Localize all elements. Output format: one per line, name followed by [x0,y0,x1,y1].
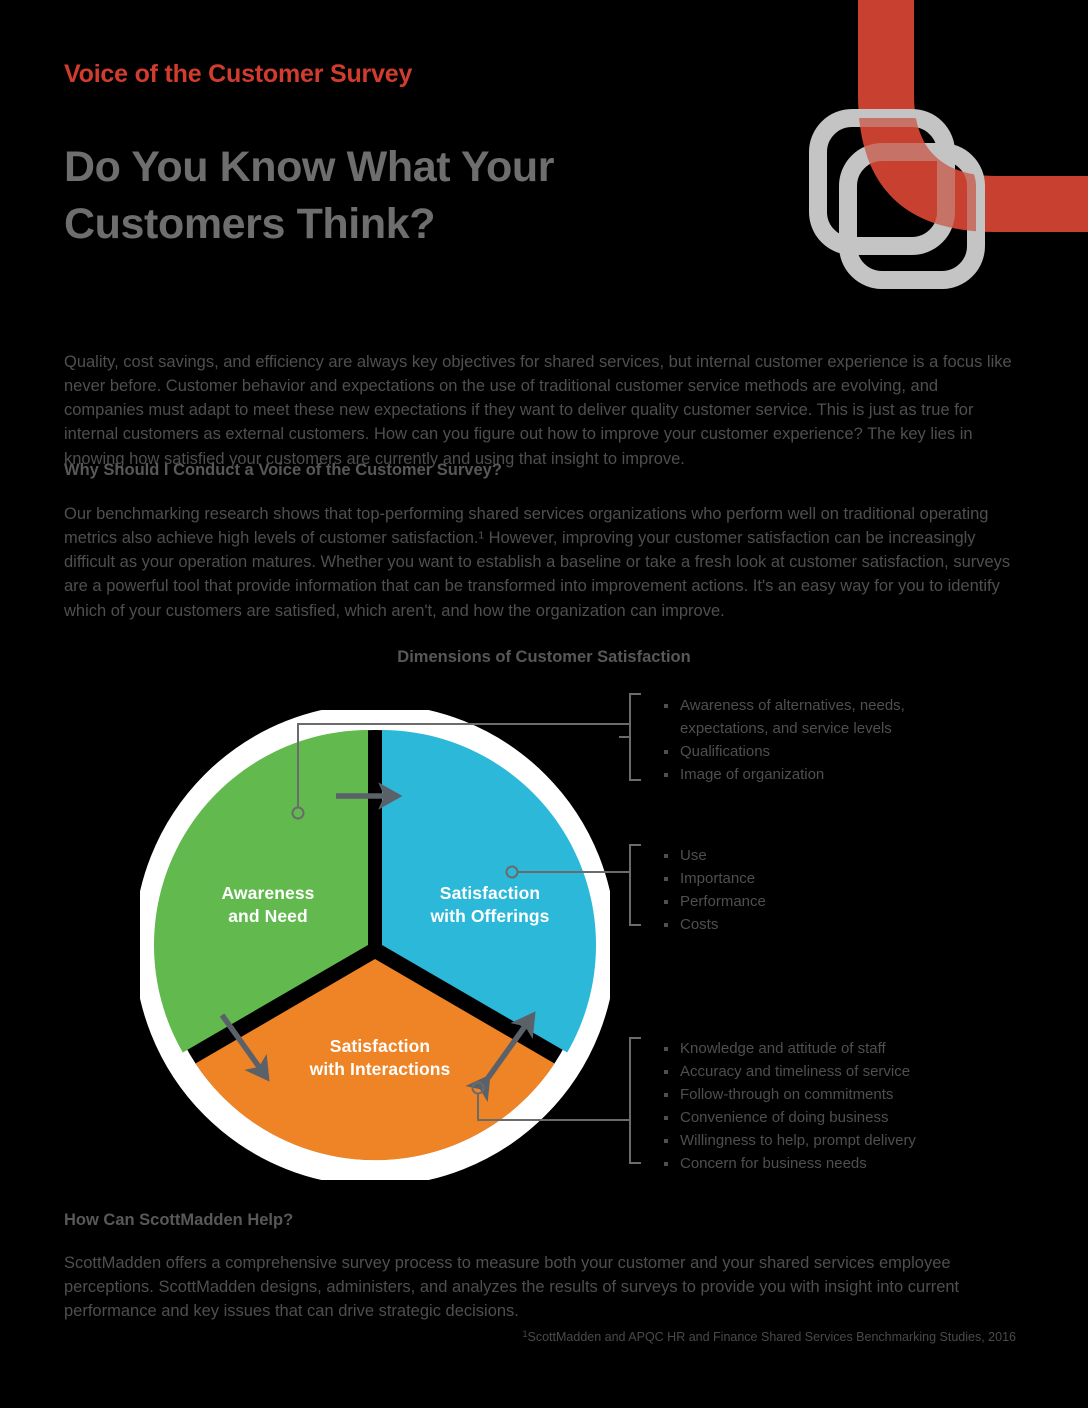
document-page: Voice of the Customer Survey Do You Know… [0,0,1088,1408]
bullet-group-interactions: Knowledge and attitude of staff Accuracy… [662,1038,992,1176]
donut-chart [140,710,610,1180]
logo-mark [800,0,1088,290]
help-section-paragraph: ScottMadden offers a comprehensive surve… [64,1251,1016,1324]
bullet-list-awareness: Awareness of alternatives, needs, expect… [662,695,972,786]
segment-label-offerings: Satisfaction with Offerings [390,882,590,928]
bullet-list-interactions: Knowledge and attitude of staff Accuracy… [662,1038,992,1176]
diagram-title: Dimensions of Customer Satisfaction [0,648,1088,667]
page-title: Do You Know What Your Customers Think? [64,139,764,253]
scottmadden-logo [800,0,1088,290]
segment-label-awareness: Awareness and Need [178,882,358,928]
list-item: Willingness to help, prompt delivery [662,1130,992,1153]
segment-label-interactions: Satisfaction with Interactions [270,1035,490,1081]
footnote: 1ScottMadden and APQC HR and Finance Sha… [64,1329,1016,1344]
list-item: Image of organization [662,764,972,787]
bullet-list-offerings: Use Importance Performance Costs [662,845,972,937]
eyebrow-title: Voice of the Customer Survey [64,60,412,89]
list-item: Costs [662,914,972,937]
list-item: Convenience of doing business [662,1107,992,1130]
footnote-text: ScottMadden and APQC HR and Finance Shar… [528,1330,1016,1344]
bullet-group-awareness: Awareness of alternatives, needs, expect… [662,695,972,787]
list-item: Performance [662,891,972,914]
list-item: Concern for business needs [662,1153,992,1176]
list-item: Awareness of alternatives, needs, expect… [662,695,972,740]
list-item: Accuracy and timeliness of service [662,1061,992,1084]
list-item: Follow-through on commitments [662,1084,992,1107]
why-section-paragraph: Our benchmarking research shows that top… [64,502,1016,623]
why-section-heading: Why Should I Conduct a Voice of the Cust… [64,461,502,480]
list-item: Qualifications [662,741,972,764]
list-item: Knowledge and attitude of staff [662,1038,992,1061]
help-section-heading: How Can ScottMadden Help? [64,1211,293,1230]
list-item: Use [662,845,972,868]
intro-paragraph: Quality, cost savings, and efficiency ar… [64,350,1016,471]
list-item: Importance [662,868,972,891]
bullet-group-offerings: Use Importance Performance Costs [662,845,972,937]
